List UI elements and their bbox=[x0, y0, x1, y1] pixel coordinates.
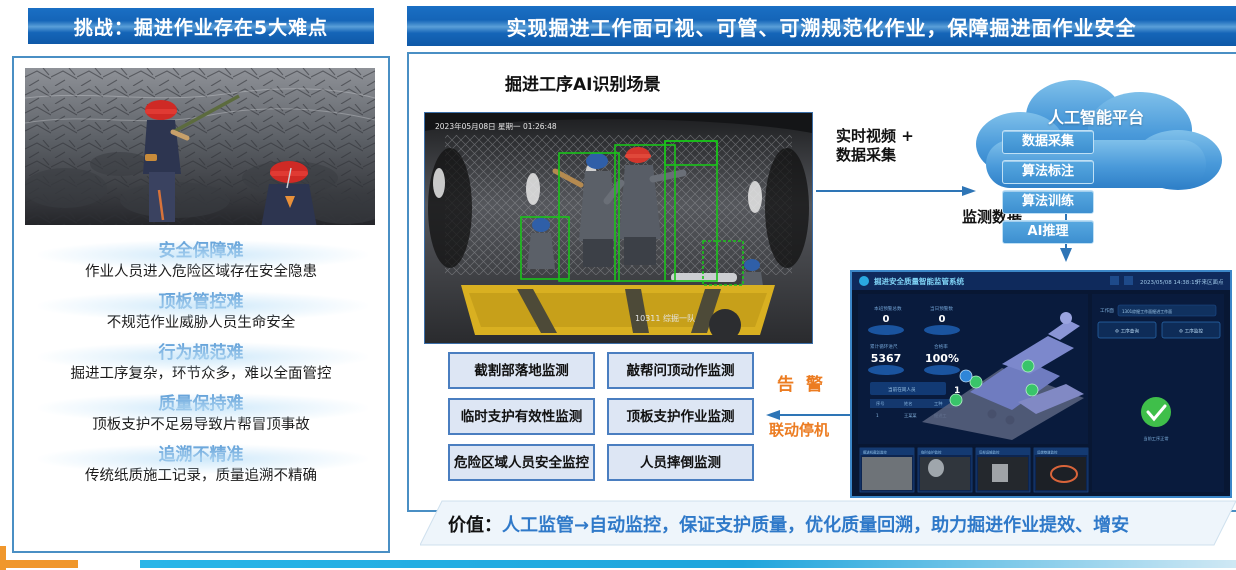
svg-text:远端巷道监控: 远端巷道监控 bbox=[1037, 450, 1058, 455]
video-flow-label-line2: 数据采集 bbox=[836, 146, 914, 165]
cloud-tag-4[interactable]: AI推理 bbox=[1002, 220, 1094, 244]
svg-text:本班预警总数: 本班预警总数 bbox=[874, 305, 902, 312]
value-prefix: 价值： bbox=[448, 515, 502, 536]
challenge-desc: 顶板支护不足易导致片帮冒顶事故 bbox=[14, 415, 388, 435]
right-header-text: 实现掘进工作面可视、可管、可溯规范化作业，保障掘进面作业安全 bbox=[507, 12, 1137, 41]
svg-text:工作面: 工作面 bbox=[1100, 307, 1114, 314]
challenge-desc: 作业人员进入危险区域存在安全隐患 bbox=[14, 262, 388, 282]
monitoring-item[interactable]: 危险区域人员安全监控 bbox=[448, 444, 595, 481]
svg-text:5367: 5367 bbox=[871, 352, 902, 365]
cloud-title: 人工智能平台 bbox=[962, 104, 1230, 128]
video-flow-label-line1: 实时视频 + bbox=[836, 127, 914, 146]
svg-text:⚙ 工序查询: ⚙ 工序查询 bbox=[1115, 328, 1139, 335]
cloud-tag-2[interactable]: 算法标注 bbox=[1002, 160, 1094, 184]
challenge-item: 追溯不精准传统纸质施工记录，质量追溯不精确 bbox=[14, 444, 388, 486]
challenge-desc: 掘进工序复杂，环节众多，难以全面管控 bbox=[14, 364, 388, 384]
cloud-tag-list: 数据采集算法标注算法训练AI推理 bbox=[1002, 130, 1192, 244]
challenge-title: 行为规范难 bbox=[14, 342, 388, 364]
svg-text:临时支护监控: 临时支护监控 bbox=[921, 450, 942, 455]
challenge-item: 安全保障难作业人员进入危险区域存在安全隐患 bbox=[14, 240, 388, 282]
svg-text:后部运输监控: 后部运输监控 bbox=[979, 450, 1000, 455]
video-flow-label: 实时视频 + 数据采集 bbox=[836, 127, 914, 165]
monitoring-item[interactable]: 临时支护有效性监测 bbox=[448, 398, 595, 435]
svg-text:掘进机截割监控: 掘进机截割监控 bbox=[863, 450, 887, 455]
footer-cyan-bar bbox=[140, 560, 1236, 568]
ai-platform-cloud: 人工智能平台 数据采集算法标注算法训练AI推理 bbox=[962, 78, 1230, 200]
challenge-desc: 不规范作业威胁人员生命安全 bbox=[14, 313, 388, 333]
monitoring-item[interactable]: 敲帮问顶动作监测 bbox=[607, 352, 754, 389]
svg-text:100%: 100% bbox=[925, 352, 959, 365]
arrow-left-icon bbox=[766, 405, 852, 415]
svg-text:累计循环进尺: 累计循环进尺 bbox=[870, 343, 898, 350]
coal-mine-workers-photo bbox=[25, 68, 375, 225]
video-timestamp: 2023年05月08日 星期一 01:26:48 bbox=[435, 121, 557, 131]
svg-text:0: 0 bbox=[939, 314, 946, 325]
monitoring-item[interactable]: 截割部落地监测 bbox=[448, 352, 595, 389]
value-statement-band: 价值：人工监管→自动监控，保证支护质量，优化质量回溯，助力掘进作业提效、增安 bbox=[420, 497, 1236, 549]
challenge-item: 行为规范难掘进工序复杂，环节众多，难以全面管控 bbox=[14, 342, 388, 384]
svg-text:姓名: 姓名 bbox=[904, 400, 912, 407]
linkage-stop-label: 联动停机 bbox=[769, 419, 829, 440]
svg-text:当前在岗人员: 当前在岗人员 bbox=[888, 386, 916, 393]
right-panel-header: 实现掘进工作面可视、可管、可溯规范化作业，保障掘进面作业安全 bbox=[407, 6, 1236, 46]
monitoring-item[interactable]: 人员摔倒监测 bbox=[607, 444, 754, 481]
dashboard-datetime: 2023/05/08 14:38:15 bbox=[1140, 280, 1199, 286]
cloud-tag-1[interactable]: 数据采集 bbox=[1002, 130, 1094, 154]
challenge-item: 顶板管控难不规范作业威胁人员生命安全 bbox=[14, 291, 388, 333]
svg-text:⚙ 工序监控: ⚙ 工序监控 bbox=[1179, 328, 1203, 335]
svg-text:当日预警数: 当日预警数 bbox=[930, 305, 953, 312]
monitoring-items-grid: 截割部落地监测敲帮问顶动作监测临时支护有效性监测顶板支护作业监测危险区域人员安全… bbox=[448, 352, 754, 481]
value-body: 人工监管→自动监控，保证支护质量，优化质量回溯，助力掘进作业提效、增安 bbox=[502, 515, 1129, 536]
challenge-title: 顶板管控难 bbox=[14, 291, 388, 313]
challenge-title: 追溯不精准 bbox=[14, 444, 388, 466]
monitoring-item[interactable]: 顶板支护作业监测 bbox=[607, 398, 754, 435]
left-header-text: 挑战：掘进作业存在5大难点 bbox=[74, 13, 328, 40]
monitoring-dashboard-screenshot: 掘进安全质量智能监管系统 2023/05/08 14:38:15 开来区面点 本… bbox=[850, 270, 1232, 498]
challenge-title: 质量保持难 bbox=[14, 393, 388, 415]
challenge-title: 安全保障难 bbox=[14, 240, 388, 262]
ai-detection-video-frame: 2023年05月08日 星期一 01:26:48 10311 综掘一队 bbox=[424, 112, 813, 344]
svg-text:0: 0 bbox=[883, 314, 890, 325]
svg-text:1: 1 bbox=[876, 413, 879, 418]
left-panel-header: 挑战：掘进作业存在5大难点 bbox=[28, 8, 374, 44]
svg-text:当前工序正常: 当前工序正常 bbox=[1143, 435, 1168, 442]
arrow-right-icon bbox=[816, 181, 976, 191]
video-watermark: 10311 综掘一队 bbox=[635, 313, 695, 323]
svg-text:合格率: 合格率 bbox=[934, 343, 948, 350]
ai-scene-title: 掘进工序AI识别场景 bbox=[505, 70, 660, 95]
dashboard-user: 开来区面点 bbox=[1196, 278, 1224, 286]
value-statement-text: 价值：人工监管→自动监控，保证支护质量，优化质量回溯，助力掘进作业提效、增安 bbox=[448, 511, 1129, 537]
svg-text:工种: 工种 bbox=[934, 400, 942, 407]
svg-text:1301综掘工作面掘进工作面: 1301综掘工作面掘进工作面 bbox=[1122, 308, 1172, 314]
challenge-desc: 传统纸质施工记录，质量追溯不精确 bbox=[14, 466, 388, 486]
dashboard-title: 掘进安全质量智能监管系统 bbox=[874, 276, 964, 286]
svg-text:序号: 序号 bbox=[876, 400, 884, 407]
challenges-list: 安全保障难作业人员进入危险区域存在安全隐患顶板管控难不规范作业威胁人员生命安全行… bbox=[14, 240, 388, 495]
cloud-tag-3[interactable]: 算法训练 bbox=[1002, 190, 1094, 214]
challenge-item: 质量保持难顶板支护不足易导致片帮冒顶事故 bbox=[14, 393, 388, 435]
alarm-label: 告 警 bbox=[777, 370, 826, 395]
footer-orange-bar bbox=[0, 560, 78, 568]
